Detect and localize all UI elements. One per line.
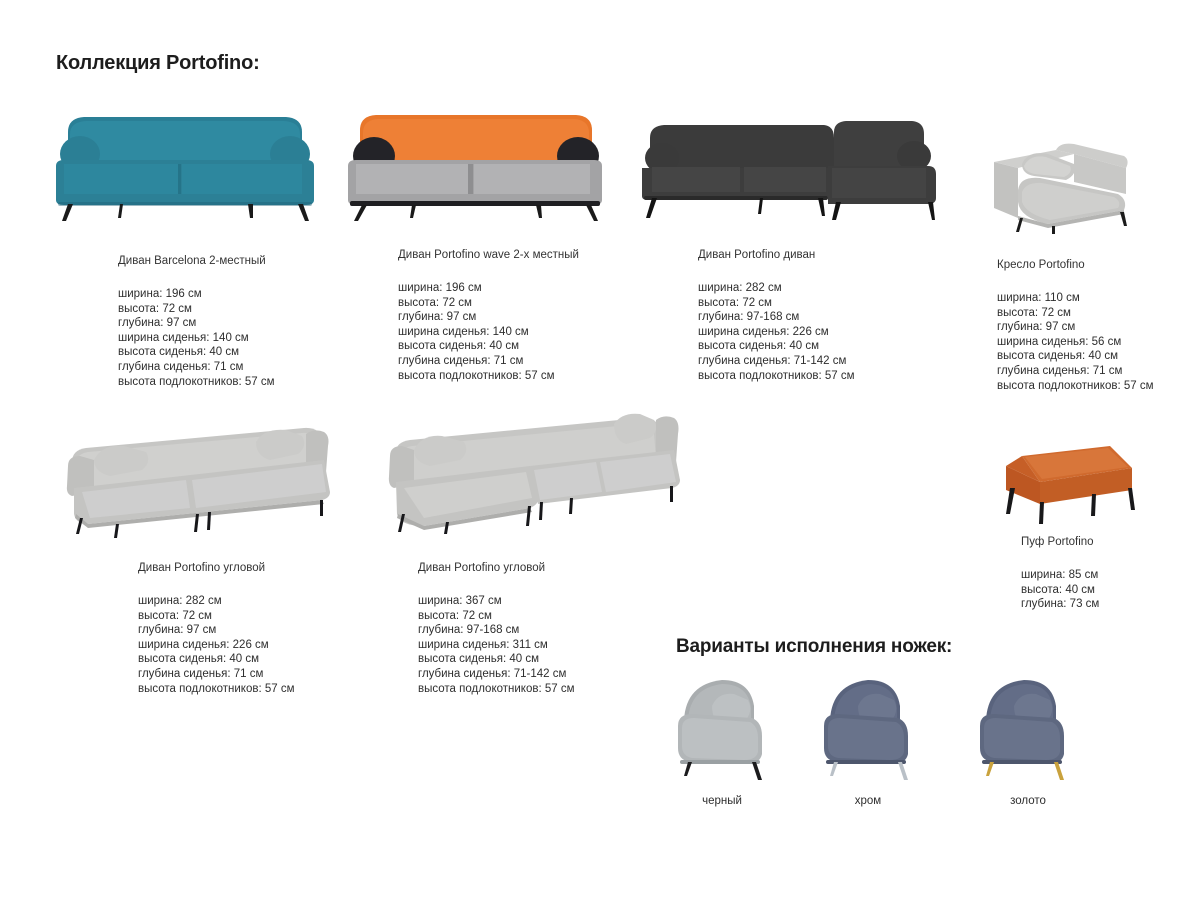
- spec-list: ширина: 196 см высота: 72 см глубина: 97…: [118, 287, 388, 389]
- product-image-portofino-divan: [636, 110, 946, 222]
- leg-variant-label-black: черный: [662, 795, 782, 807]
- spec-list: ширина: 85 см высота: 40 см глубина: 73 …: [1021, 568, 1201, 612]
- product-name: Диван Portofino wave 2-х местный: [398, 249, 678, 261]
- product-block-portofino-divan: Диван Portofino диван ширина: 282 см выс…: [698, 249, 968, 383]
- spec-item: ширина: 110 см: [997, 291, 1197, 306]
- leg-variant-black: [666, 672, 786, 782]
- spec-item: высота сиденья: 40 см: [118, 345, 388, 360]
- spec-item: высота подлокотников: 57 см: [118, 375, 388, 390]
- spec-item: высота: 72 см: [997, 306, 1197, 321]
- spec-item: высота подлокотников: 57 см: [698, 369, 968, 384]
- spec-list: ширина: 282 см высота: 72 см глубина: 97…: [698, 281, 968, 383]
- spec-item: глубина: 97-168 см: [418, 623, 688, 638]
- product-image-portofino-wave-2: [340, 104, 610, 222]
- spec-item: высота: 40 см: [1021, 583, 1201, 598]
- product-block-barcelona-2: Диван Barcelona 2-местный ширина: 196 см…: [118, 255, 388, 389]
- leg-variant-label-chrome: хром: [808, 795, 928, 807]
- spec-list: ширина: 196 см высота: 72 см глубина: 97…: [398, 281, 678, 383]
- product-block-kreslo-portofino: Кресло Portofino ширина: 110 см высота: …: [997, 259, 1197, 393]
- product-image-barcelona-2: [50, 104, 320, 222]
- product-name: Диван Portofino угловой: [418, 562, 688, 574]
- spec-item: высота подлокотников: 57 см: [138, 682, 408, 697]
- spec-item: глубина: 97 см: [118, 316, 388, 331]
- product-name: Диван Barcelona 2-местный: [118, 255, 388, 267]
- spec-item: ширина сиденья: 140 см: [118, 331, 388, 346]
- spec-item: глубина сиденья: 71 см: [997, 364, 1197, 379]
- spec-item: ширина: 196 см: [118, 287, 388, 302]
- spec-item: высота: 72 см: [398, 296, 678, 311]
- leg-variant-label-gold: золото: [968, 795, 1088, 807]
- spec-item: высота сиденья: 40 см: [698, 339, 968, 354]
- spec-item: ширина: 282 см: [698, 281, 968, 296]
- product-block-portofino-uglovoy-282: Диван Portofino угловой ширина: 282 см в…: [138, 562, 408, 696]
- legs-section-title: Варианты исполнения ножек:: [676, 636, 952, 658]
- spec-list: ширина: 282 см высота: 72 см глубина: 97…: [138, 594, 408, 696]
- spec-item: высота подлокотников: 57 см: [398, 369, 678, 384]
- spec-item: высота подлокотников: 57 см: [418, 682, 688, 697]
- spec-item: высота: 72 см: [418, 609, 688, 624]
- product-name: Диван Portofino диван: [698, 249, 968, 261]
- product-name: Кресло Portofino: [997, 259, 1197, 271]
- spec-item: высота сиденья: 40 см: [138, 652, 408, 667]
- spec-item: глубина сиденья: 71-142 см: [418, 667, 688, 682]
- spec-item: глубина: 73 см: [1021, 597, 1201, 612]
- spec-item: ширина: 85 см: [1021, 568, 1201, 583]
- spec-item: глубина сиденья: 71 см: [138, 667, 408, 682]
- spec-list: ширина: 367 см высота: 72 см глубина: 97…: [418, 594, 688, 696]
- spec-item: ширина сиденья: 56 см: [997, 335, 1197, 350]
- spec-item: глубина: 97-168 см: [698, 310, 968, 325]
- spec-item: ширина: 367 см: [418, 594, 688, 609]
- page-title: Коллекция Portofino:: [56, 52, 260, 75]
- product-image-kreslo-portofino: [978, 120, 1148, 235]
- spec-item: ширина сиденья: 140 см: [398, 325, 678, 340]
- spec-item: ширина сиденья: 226 см: [698, 325, 968, 340]
- leg-variant-gold: [968, 672, 1088, 782]
- spec-item: глубина: 97 см: [398, 310, 678, 325]
- product-image-puf-portofino: [992, 432, 1142, 527]
- spec-list: ширина: 110 см высота: 72 см глубина: 97…: [997, 291, 1197, 393]
- spec-item: высота: 72 см: [138, 609, 408, 624]
- spec-item: ширина сиденья: 311 см: [418, 638, 688, 653]
- product-block-portofino-wave-2: Диван Portofino wave 2-х местный ширина:…: [398, 249, 678, 383]
- spec-item: высота сиденья: 40 см: [418, 652, 688, 667]
- spec-item: глубина сиденья: 71 см: [398, 354, 678, 369]
- product-image-portofino-uglovoy-367: [382, 410, 692, 535]
- product-name: Диван Portofino угловой: [138, 562, 408, 574]
- product-image-portofino-uglovoy-282: [58, 414, 358, 539]
- spec-item: ширина: 282 см: [138, 594, 408, 609]
- product-name: Пуф Portofino: [1021, 536, 1201, 548]
- spec-item: глубина: 97 см: [997, 320, 1197, 335]
- catalog-page: Коллекция Portofino: Диван Barcelon: [0, 0, 1202, 902]
- spec-item: глубина сиденья: 71 см: [118, 360, 388, 375]
- spec-item: высота: 72 см: [118, 302, 388, 317]
- spec-item: ширина сиденья: 226 см: [138, 638, 408, 653]
- spec-item: высота: 72 см: [698, 296, 968, 311]
- leg-variant-chrome: [812, 672, 932, 782]
- product-block-portofino-uglovoy-367: Диван Portofino угловой ширина: 367 см в…: [418, 562, 688, 696]
- spec-item: глубина сиденья: 71-142 см: [698, 354, 968, 369]
- spec-item: высота сиденья: 40 см: [398, 339, 678, 354]
- spec-item: высота подлокотников: 57 см: [997, 379, 1197, 394]
- spec-item: ширина: 196 см: [398, 281, 678, 296]
- spec-item: глубина: 97 см: [138, 623, 408, 638]
- product-block-puf-portofino: Пуф Portofino ширина: 85 см высота: 40 с…: [1021, 536, 1201, 612]
- spec-item: высота сиденья: 40 см: [997, 349, 1197, 364]
